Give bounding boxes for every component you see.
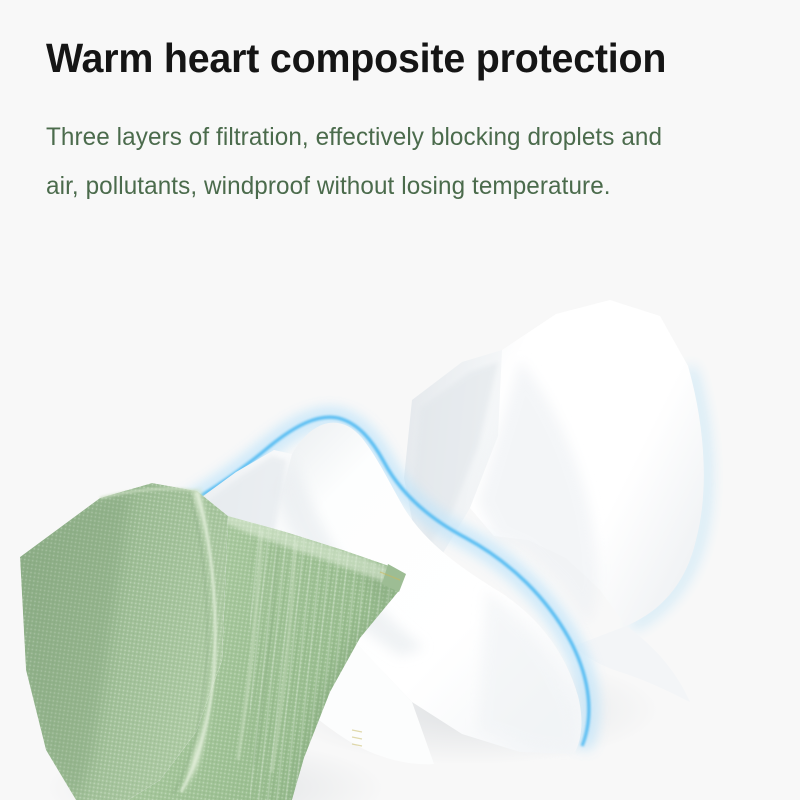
- text-block: Warm heart composite protection Three la…: [46, 34, 776, 211]
- subtitle-line-1: Three layers of filtration, effectively …: [46, 113, 754, 162]
- subtitle-line-2: air, pollutants, windproof without losin…: [46, 162, 754, 211]
- page-title: Warm heart composite protection: [46, 34, 747, 82]
- product-illustration: [0, 240, 800, 800]
- product-feature-banner: Warm heart composite protection Three la…: [0, 0, 800, 800]
- subtitle: Three layers of filtration, effectively …: [46, 82, 754, 211]
